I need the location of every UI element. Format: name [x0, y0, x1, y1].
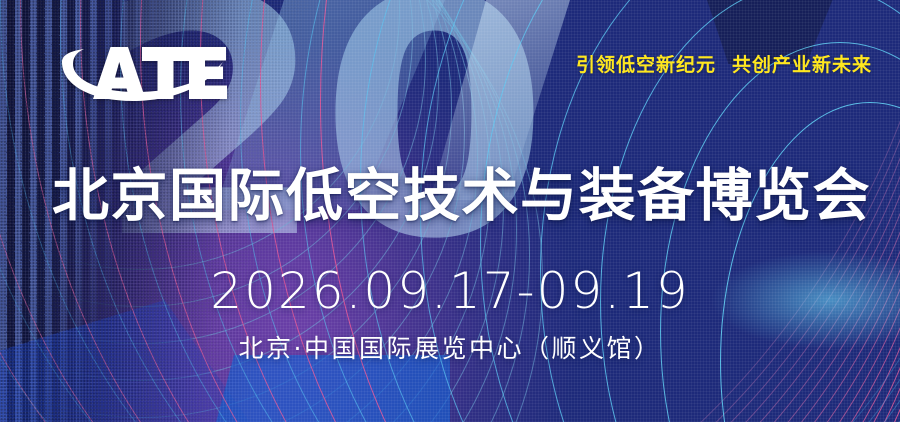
tagline: 引领低空新纪元共创产业新未来 [576, 50, 872, 77]
event-title: 北京国际低空技术与装备博览会 [52, 168, 871, 225]
event-venue: 北京·中国国际展览中心（顺义馆） [0, 336, 900, 361]
event-banner: 20 [0, 0, 900, 422]
tagline-part1: 引领低空新纪元 [576, 54, 716, 76]
banner-content: 引领低空新纪元共创产业新未来 北京国际低空技术与装备博览会 2026.09.17… [0, 0, 900, 422]
tagline-part2: 共创产业新未来 [732, 54, 872, 76]
ate-logo[interactable] [58, 38, 228, 108]
event-date: 2026.09.17-09.19 [0, 266, 900, 316]
